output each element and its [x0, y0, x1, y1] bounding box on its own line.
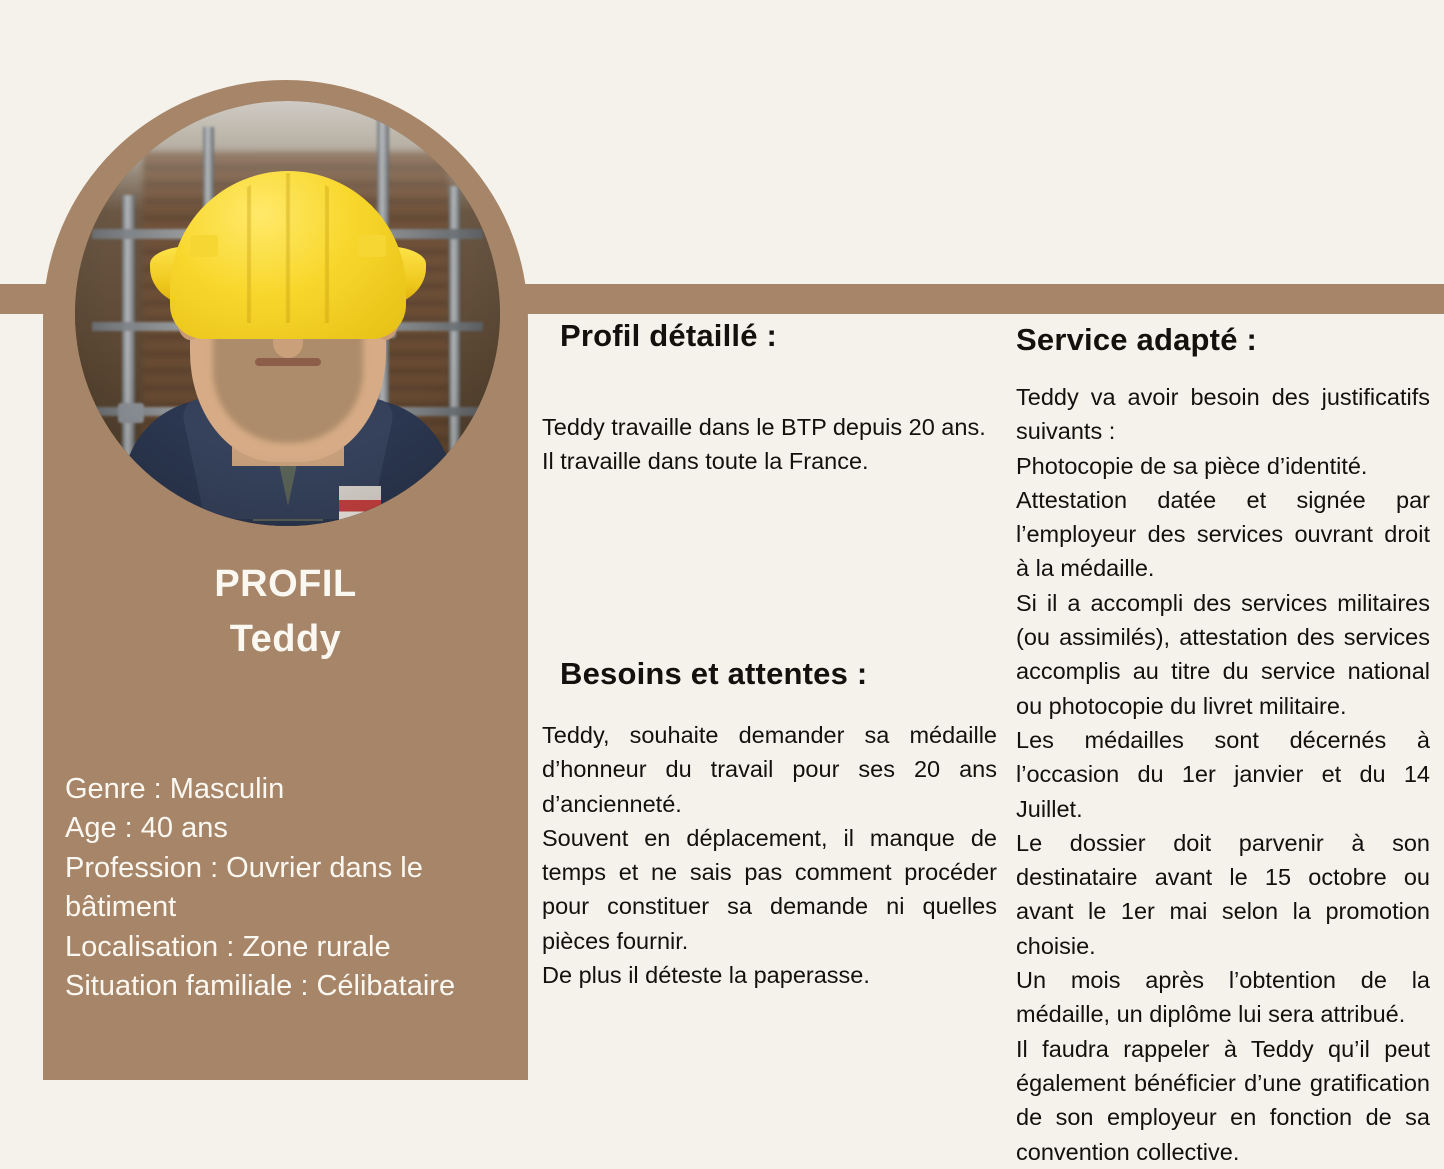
- profile-meta-job-cont: bâtiment: [65, 888, 525, 927]
- mouth: [255, 358, 321, 366]
- profile-meta-job: Profession : Ouvrier dans le: [65, 849, 525, 888]
- detailed-profile-body: Teddy travaille dans le BTP depuis 20 an…: [542, 410, 992, 479]
- profile-meta-location: Localisation : Zone rurale: [65, 928, 525, 967]
- detailed-profile-heading: Profil détaillé :: [560, 318, 777, 354]
- persona-card: PROFIL Teddy Genre : Masculin Age : 40 a…: [0, 0, 1444, 1080]
- needs-body: Teddy, souhaite demander sa médaille d’h…: [542, 718, 997, 992]
- hard-hat-ridges: [223, 173, 353, 323]
- service-heading: Service adapté :: [1016, 322, 1257, 358]
- avatar-photo: [75, 101, 500, 526]
- profile-meta-list: Genre : Masculin Age : 40 ans Profession…: [65, 770, 525, 1007]
- hard-hat-tab-right: [358, 235, 386, 257]
- flag-patch-icon: [339, 486, 381, 526]
- profile-title: PROFIL Teddy: [43, 557, 528, 667]
- service-body: Teddy va avoir besoin des justificatifs …: [1016, 380, 1430, 1169]
- needs-heading: Besoins et attentes :: [560, 656, 867, 692]
- worker-figure: [75, 101, 500, 526]
- profile-name: Teddy: [43, 612, 528, 667]
- profile-label: PROFIL: [43, 557, 528, 612]
- avatar: [75, 101, 500, 526]
- profile-meta-gender: Genre : Masculin: [65, 770, 525, 809]
- profile-meta-family: Situation familiale : Célibataire: [65, 967, 525, 1006]
- hard-hat-tab-left: [190, 235, 218, 257]
- profile-meta-age: Age : 40 ans: [65, 809, 525, 848]
